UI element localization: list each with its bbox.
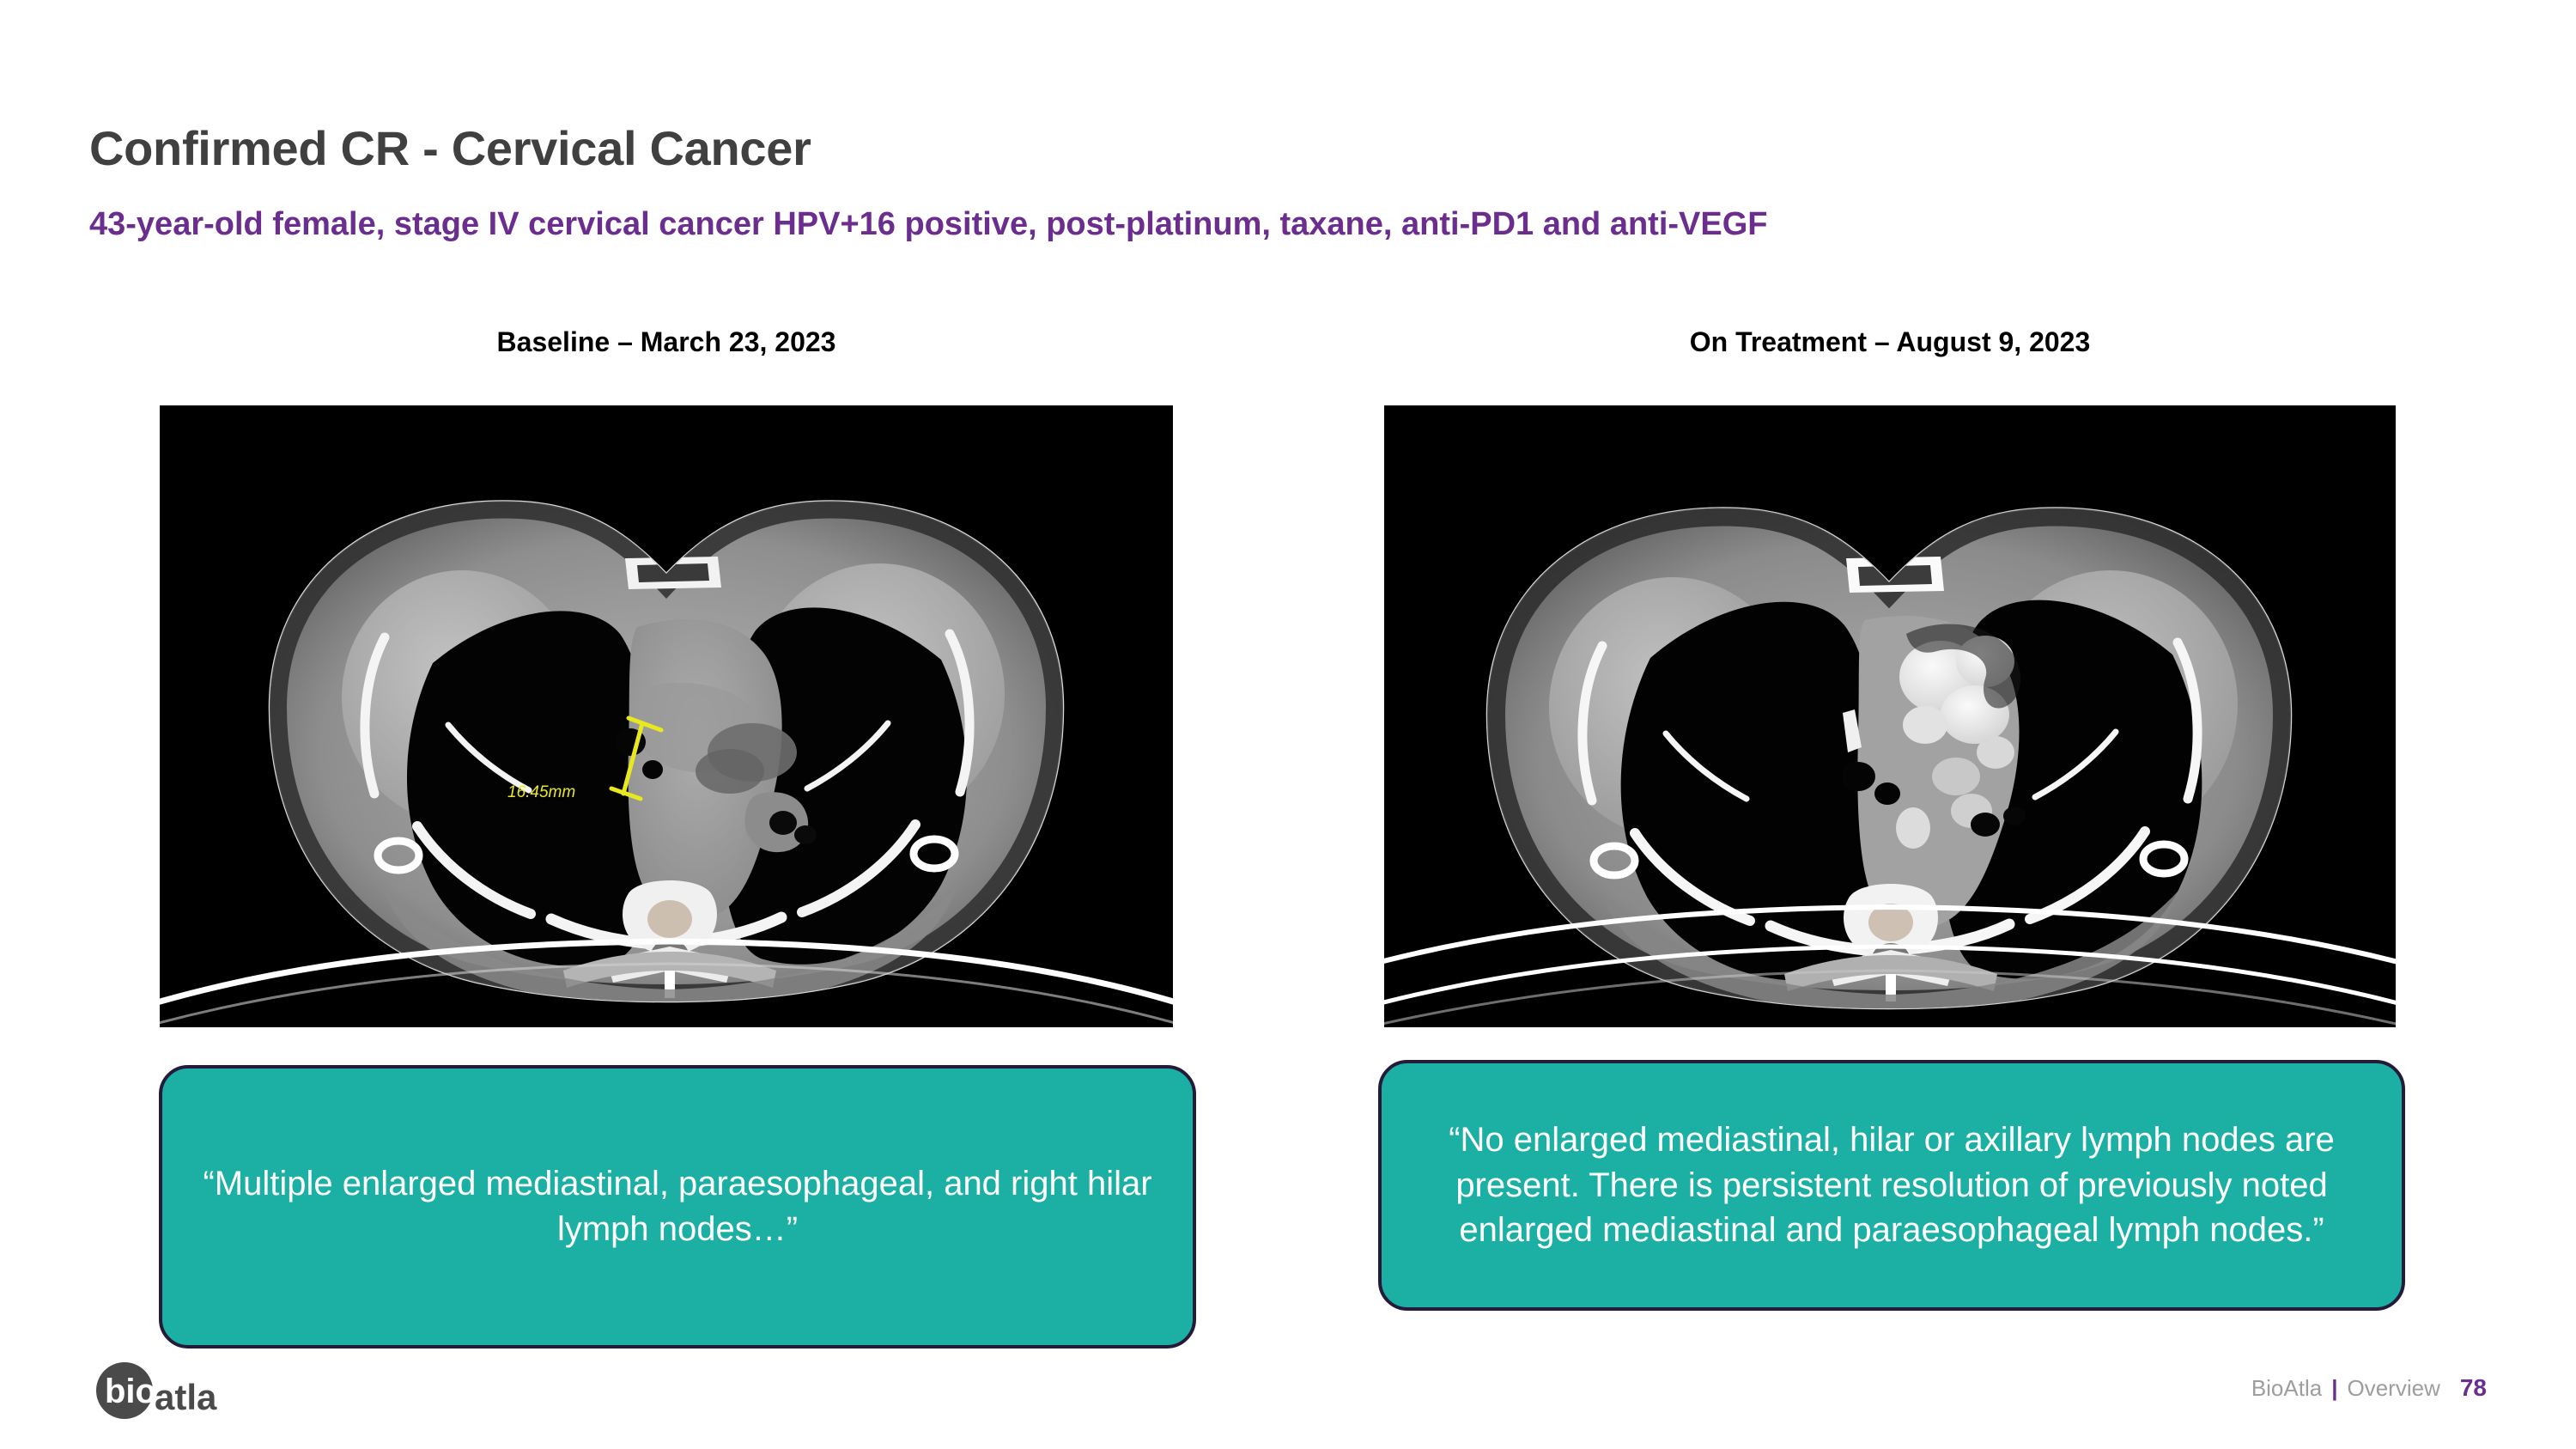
ct-scan-baseline-image [160, 405, 1173, 1027]
ct-scan-baseline: 16.45mm [160, 405, 1173, 1027]
quote-text-baseline: “Multiple enlarged mediastinal, paraesop… [191, 1161, 1163, 1252]
bioatla-logo: bio atla [93, 1361, 282, 1424]
quote-box-on-treatment: “No enlarged mediastinal, hilar or axill… [1378, 1060, 2405, 1311]
page-number: 78 [2460, 1374, 2487, 1402]
quote-box-baseline: “Multiple enlarged mediastinal, paraesop… [159, 1065, 1196, 1349]
logo-text-bio: bio [105, 1373, 156, 1410]
quote-text-on-treatment: “No enlarged mediastinal, hilar or axill… [1411, 1117, 2372, 1253]
page-title: Confirmed CR - Cervical Cancer [89, 120, 811, 176]
column-header-baseline: Baseline – March 23, 2023 [160, 326, 1173, 358]
column-header-on-treatment: On Treatment – August 9, 2023 [1384, 326, 2396, 358]
footer-separator: | [2331, 1375, 2337, 1402]
ct-scan-on-treatment [1384, 405, 2396, 1027]
footer-section: Overview [2347, 1375, 2439, 1402]
footer-meta: BioAtla | Overview 78 [2251, 1374, 2487, 1402]
page-subtitle: 43-year-old female, stage IV cervical ca… [89, 206, 1768, 243]
footer-company: BioAtla [2251, 1375, 2322, 1402]
ct-scan-on-treatment-image [1384, 405, 2396, 1027]
bioatla-logo-mark: bio atla [93, 1361, 282, 1424]
logo-text-atla: atla [155, 1377, 217, 1417]
